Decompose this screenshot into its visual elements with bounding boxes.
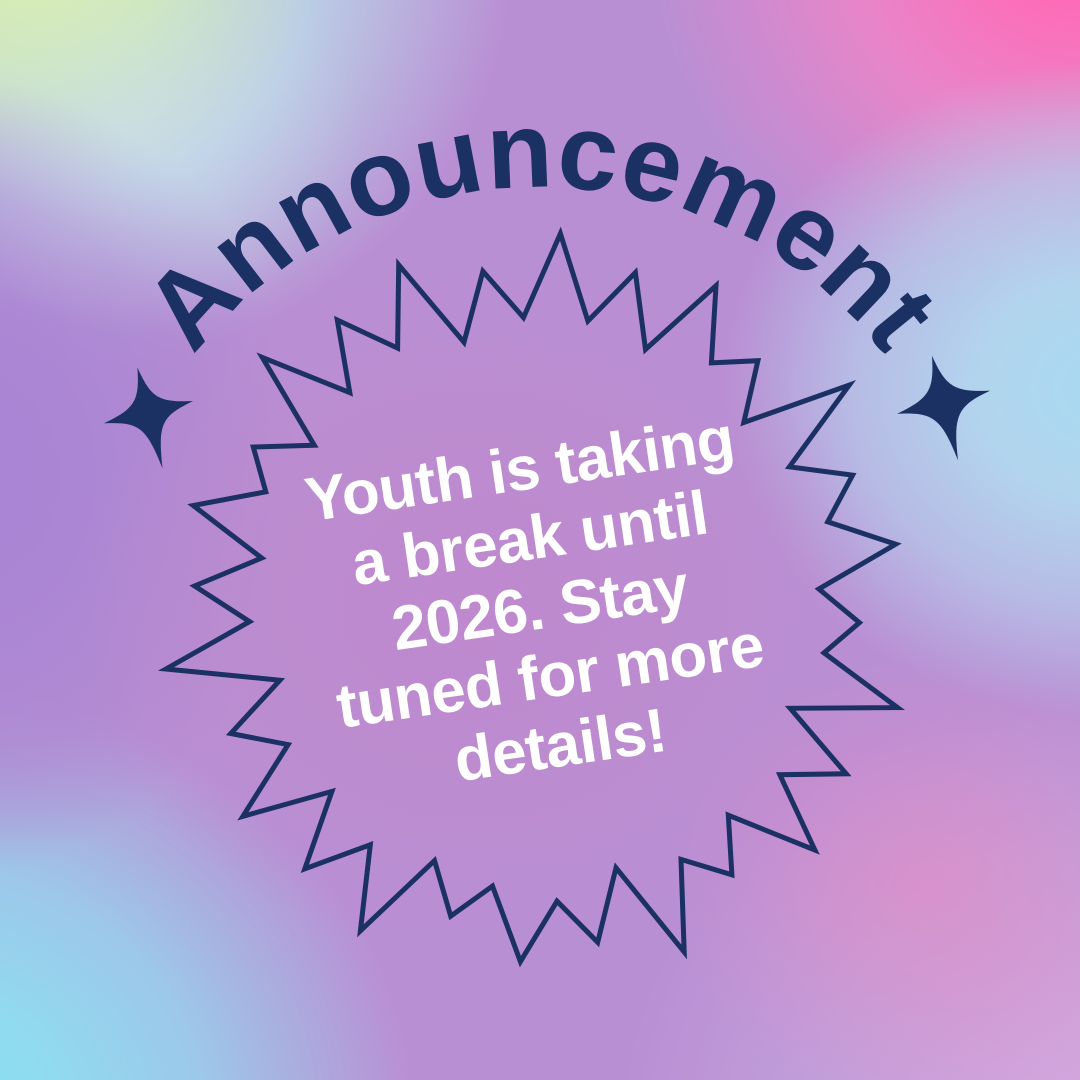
announcement-poster: Announcement Youth is taking a break unt…: [0, 0, 1080, 1080]
sparkle-left-icon: [93, 356, 207, 479]
arc-title: Announcement: [120, 88, 962, 371]
sparkle-right-icon: [885, 344, 1004, 472]
